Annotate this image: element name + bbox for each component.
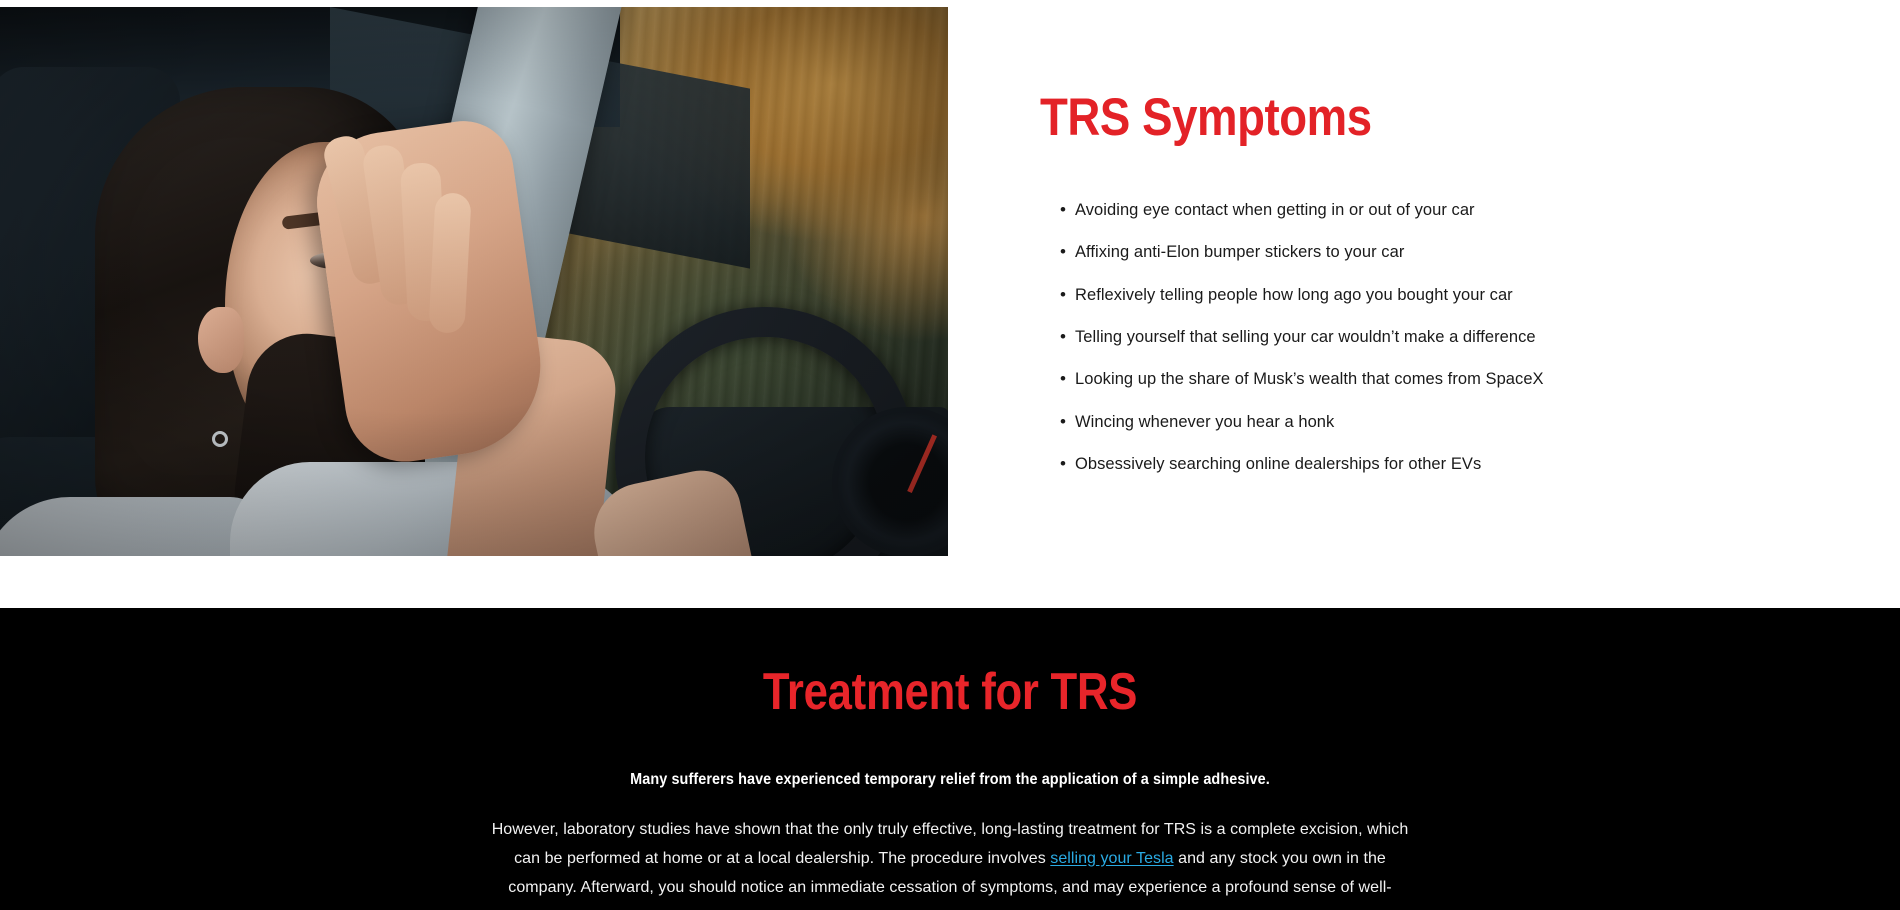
list-item: • Wincing whenever you hear a honk [1040, 412, 1800, 433]
article-page: TRS Symptoms • Avoiding eye contact when… [0, 0, 1900, 910]
symptoms-content: TRS Symptoms • Avoiding eye contact when… [1040, 90, 1800, 497]
bullet-icon: • [1060, 241, 1066, 263]
bullet-icon: • [1060, 326, 1066, 348]
list-item: • Looking up the share of Musk’s wealth … [1040, 369, 1800, 390]
list-item-label: Affixing anti-Elon bumper stickers to yo… [1075, 243, 1404, 261]
photo-vignette [0, 7, 948, 556]
list-item-label: Avoiding eye contact when getting in or … [1075, 201, 1475, 219]
list-item-label: Telling yourself that selling your car w… [1075, 328, 1536, 346]
list-item: • Avoiding eye contact when getting in o… [1040, 200, 1800, 221]
bullet-icon: • [1060, 411, 1066, 433]
treatment-paragraph: However, laboratory studies have shown t… [490, 815, 1410, 902]
treatment-heading: Treatment for TRS [152, 665, 1748, 720]
treatment-lede: Many sufferers have experienced temporar… [67, 771, 1834, 789]
list-item-label: Wincing whenever you hear a honk [1075, 413, 1334, 431]
treatment-section: Treatment for TRS Many sufferers have ex… [0, 608, 1900, 910]
selling-your-tesla-link[interactable]: selling your Tesla [1050, 850, 1173, 867]
symptoms-heading: TRS Symptoms [1040, 90, 1694, 146]
bullet-icon: • [1060, 453, 1066, 475]
list-item: • Obsessively searching online dealershi… [1040, 454, 1800, 475]
list-item-label: Looking up the share of Musk’s wealth th… [1075, 370, 1544, 388]
symptoms-list: • Avoiding eye contact when getting in o… [1040, 200, 1800, 476]
list-item: • Telling yourself that selling your car… [1040, 327, 1800, 348]
list-item: • Affixing anti-Elon bumper stickers to … [1040, 242, 1800, 263]
list-item: • Reflexively telling people how long ag… [1040, 285, 1800, 306]
list-item-label: Reflexively telling people how long ago … [1075, 286, 1513, 304]
list-item-label: Obsessively searching online dealerships… [1075, 455, 1481, 473]
bullet-icon: • [1060, 199, 1066, 221]
treatment-content: Treatment for TRS Many sufferers have ex… [0, 665, 1900, 902]
bullet-icon: • [1060, 368, 1066, 390]
symptoms-section: TRS Symptoms • Avoiding eye contact when… [0, 0, 1900, 608]
driver-photo [0, 7, 948, 556]
bullet-icon: • [1060, 284, 1066, 306]
